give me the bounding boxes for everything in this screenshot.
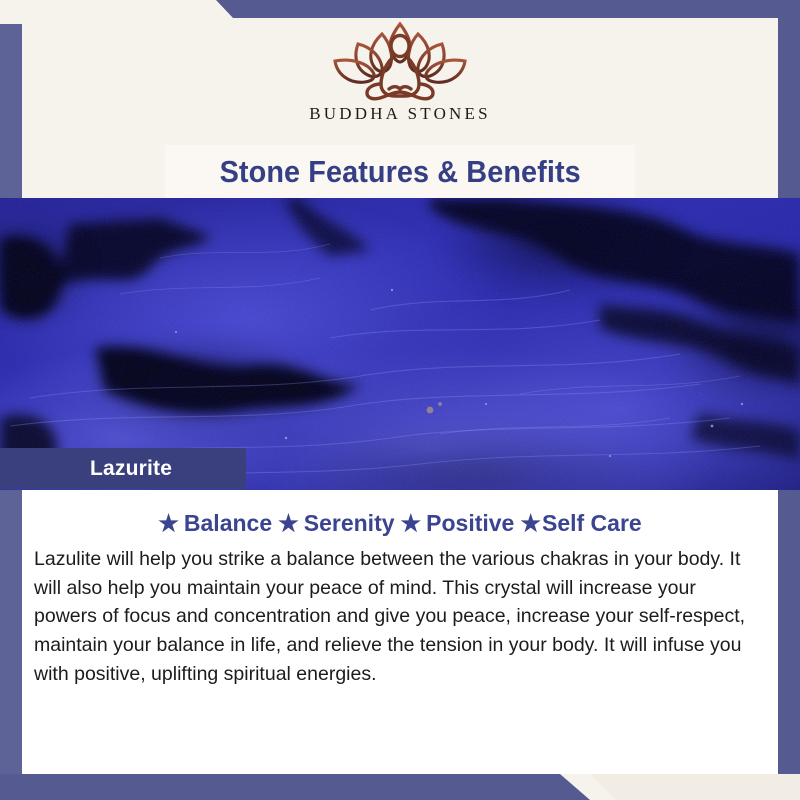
infographic-card: BUDDHA STONES Stone Features & Benefits [0,0,800,800]
title-banner: Stone Features & Benefits [165,145,635,198]
benefit-item: ★ Self Care [520,510,641,537]
benefit-item: ★ Positive [401,510,515,537]
brand-logo: BUDDHA STONES [0,14,800,124]
benefit-label: Self Care [542,510,642,537]
star-icon: ★ [278,512,299,535]
stone-photo-image [0,198,800,490]
benefit-label: Serenity [304,510,395,537]
stone-name-banner: Lazurite [0,448,246,489]
benefit-label: Positive [426,510,514,537]
benefit-item: ★ Balance [158,510,272,537]
benefit-label: Balance [184,510,272,537]
star-icon: ★ [520,512,541,535]
page-title: Stone Features & Benefits [219,154,580,190]
stone-photo [0,198,800,490]
star-icon: ★ [158,512,179,535]
lotus-meditation-icon [325,14,475,102]
stone-description: Lazulite will help you strike a balance … [34,545,752,688]
star-icon: ★ [401,512,422,535]
stone-name: Lazurite [90,457,172,481]
benefits-list: ★ Balance ★ Serenity ★ Positive ★ Self C… [22,490,778,537]
brand-name: BUDDHA STONES [0,104,800,124]
benefit-item: ★ Serenity [278,510,394,537]
content-panel: ★ Balance ★ Serenity ★ Positive ★ Self C… [22,490,778,774]
